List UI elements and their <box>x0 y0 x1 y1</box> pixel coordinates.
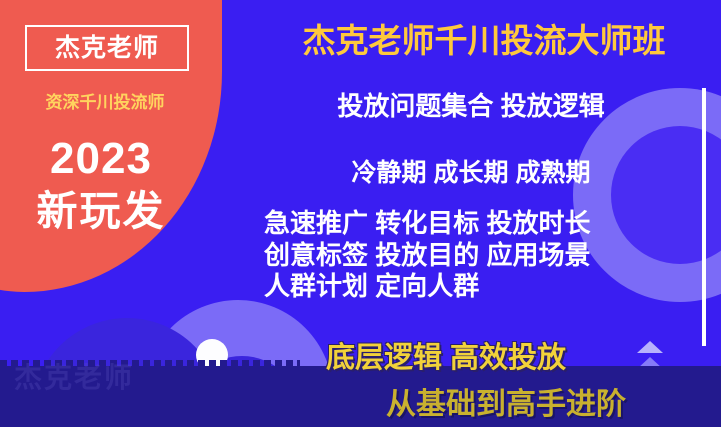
triangle-up-icon <box>637 341 663 353</box>
page-title: 杰克老师千川投流大师班 <box>274 14 694 62</box>
instructor-name-label: 杰克老师 <box>55 36 159 61</box>
brand-block: 杰克老师 资深千川投流师 2023 新玩发 <box>0 0 236 300</box>
year-label: 2023 <box>6 136 196 182</box>
slogan-label: 新玩发 <box>6 190 196 233</box>
subtitle-line-1: 投放问题集合 投放逻辑 <box>261 86 681 123</box>
feature-row: 创意标签 投放目的 应用场景 <box>264 240 709 272</box>
subtitle-line-2: 冷静期 成长期 成熟期 <box>261 153 681 189</box>
feature-row: 急速推广 转化目标 投放时长 <box>264 208 709 240</box>
instructor-name-badge: 杰克老师 <box>25 25 189 71</box>
ghost-watermark-text: 杰克老师 <box>14 356 134 396</box>
instructor-subtitle: 资深千川投流师 <box>12 88 198 113</box>
feature-list: 急速推广 转化目标 投放时长 创意标签 投放目的 应用场景 人群计划 定向人群 <box>264 208 709 303</box>
promo-poster: 杰克老师 资深千川投流师 2023 新玩发 杰克老师千川投流大师班 投放问题集合… <box>0 0 721 427</box>
feature-row: 人群计划 定向人群 <box>264 271 709 303</box>
